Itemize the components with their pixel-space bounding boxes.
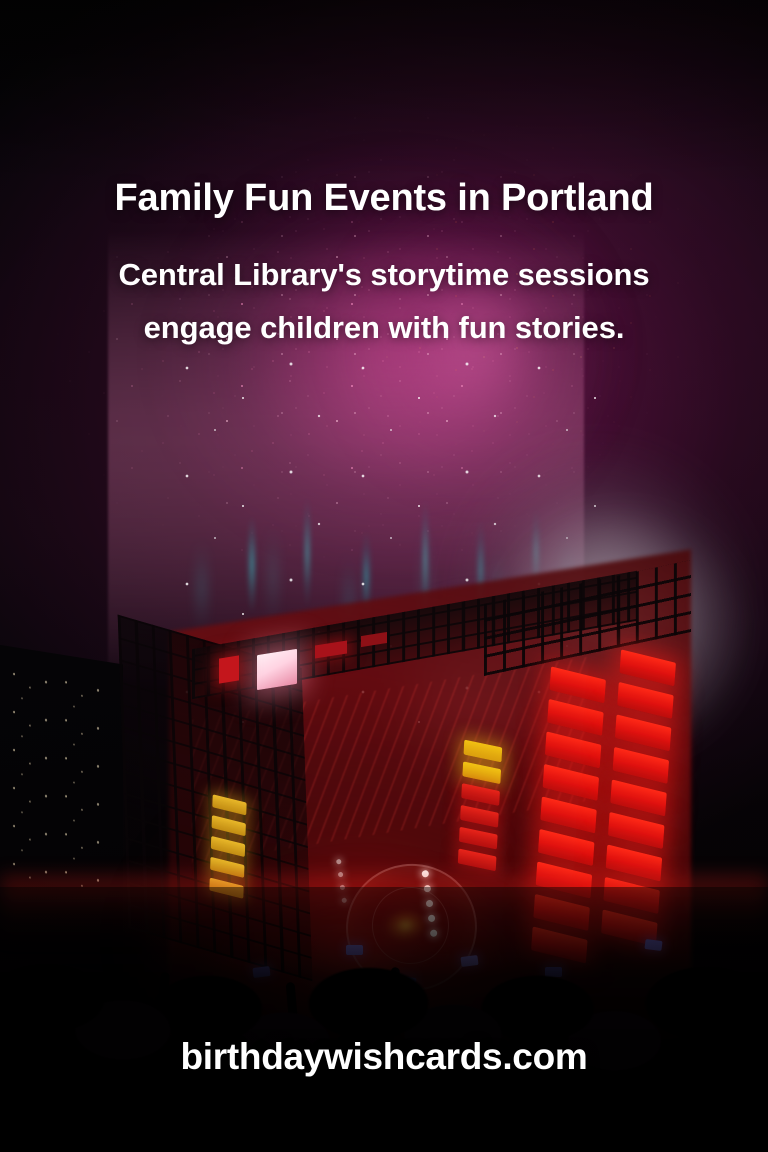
- pinterest-style-image-card: Family Fun Events in Portland Central Li…: [0, 0, 768, 1152]
- card-title: Family Fun Events in Portland: [0, 178, 768, 219]
- footer-website-url: birthdaywishcards.com: [0, 1036, 768, 1078]
- card-subtitle: Central Library's storytime sessions eng…: [0, 248, 768, 355]
- text-overlay: Family Fun Events in Portland Central Li…: [0, 0, 768, 1152]
